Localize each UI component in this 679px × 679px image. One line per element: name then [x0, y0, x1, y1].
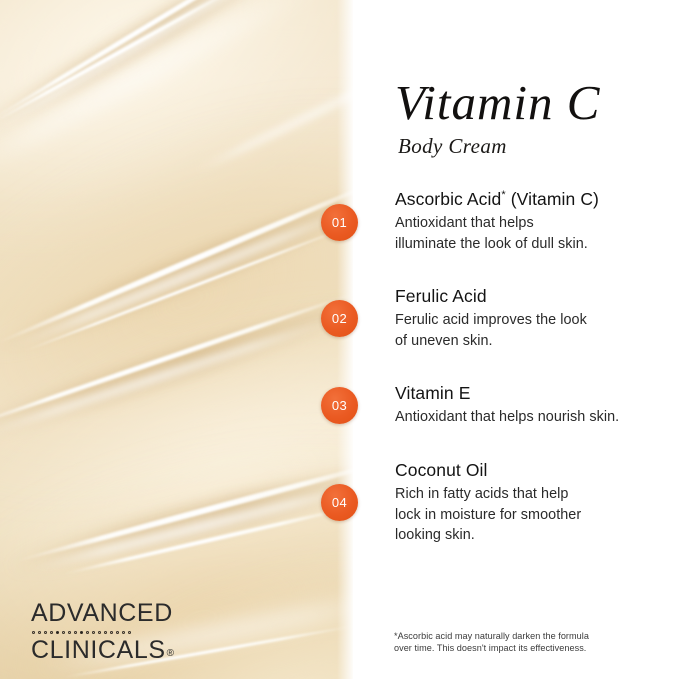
logo-dot: [62, 631, 65, 634]
logo-dot: [86, 631, 89, 634]
ingredient-name: Ferulic Acid: [395, 285, 669, 307]
ingredient-description-line: Ferulic acid improves the look: [395, 310, 669, 331]
ingredient-description: Rich in fatty acids that help lock in mo…: [395, 484, 669, 546]
logo-dot: [116, 631, 119, 634]
ingredient-name-text: Ascorbic Acid: [395, 189, 501, 209]
logo-dot: [32, 631, 35, 634]
step-badge-04[interactable]: 04: [321, 484, 358, 521]
ingredient-description-line: of uneven skin.: [395, 331, 669, 352]
logo-line-advanced: ADVANCED: [31, 600, 181, 627]
ingredient-name: Ascorbic Acid* (Vitamin C): [395, 188, 669, 210]
ingredient-name-text: Coconut Oil: [395, 460, 488, 480]
ingredient-description: Antioxidant that helps illuminate the lo…: [395, 213, 669, 254]
logo-dot: [128, 631, 131, 634]
cream-texture-photo: ADVANCED CLINICALS: [0, 0, 353, 679]
ingredient-item-ascorbic-acid: Ascorbic Acid* (Vitamin C) Antioxidant t…: [395, 188, 669, 254]
step-badge-label: 04: [332, 495, 347, 510]
ingredient-description-line: illuminate the look of dull skin.: [395, 234, 669, 255]
registered-trademark-mark: ®: [167, 647, 174, 661]
ingredient-description-line: lock in moisture for smoother: [395, 505, 669, 526]
brand-logo: ADVANCED CLINICALS: [31, 600, 181, 664]
logo-dot: [74, 631, 77, 634]
step-badge-label: 02: [332, 311, 347, 326]
ingredient-item-ferulic-acid: Ferulic Acid Ferulic acid improves the l…: [395, 285, 669, 351]
step-badge-label: 01: [332, 215, 347, 230]
logo-dot: [38, 631, 41, 634]
product-infographic: ADVANCED CLINICALS: [0, 0, 679, 679]
ingredient-name-text: Ferulic Acid: [395, 286, 487, 306]
logo-dot: [122, 631, 125, 634]
step-badge-03[interactable]: 03: [321, 387, 358, 424]
logo-dot: [110, 631, 113, 634]
ingredient-description-line: Antioxidant that helps: [395, 213, 669, 234]
ingredient-name: Vitamin E: [395, 382, 669, 404]
content-panel: Vitamin C Body Cream Ascorbic Acid* (Vit…: [353, 0, 679, 679]
ingredient-name: Coconut Oil: [395, 459, 669, 481]
ingredient-item-vitamin-e: Vitamin E Antioxidant that helps nourish…: [395, 382, 669, 428]
logo-dot: [104, 631, 107, 634]
step-badge-01[interactable]: 01: [321, 204, 358, 241]
footnote-line: over time. This doesn't impact its effec…: [394, 642, 662, 654]
footnote-line: *Ascorbic acid may naturally darken the …: [394, 630, 662, 642]
logo-dot: [44, 631, 47, 634]
logo-dot: [68, 631, 71, 634]
step-badge-label: 03: [332, 398, 347, 413]
step-badge-02[interactable]: 02: [321, 300, 358, 337]
ingredient-description: Antioxidant that helps nourish skin.: [395, 407, 669, 428]
logo-dot: [50, 631, 53, 634]
logo-dot: [98, 631, 101, 634]
logo-line-clinicals: CLINICALS: [31, 637, 166, 664]
ingredient-item-coconut-oil: Coconut Oil Rich in fatty acids that hel…: [395, 459, 669, 546]
ingredient-list: Ascorbic Acid* (Vitamin C) Antioxidant t…: [353, 0, 679, 679]
logo-line-clinicals-wrap: CLINICALS ®: [31, 637, 181, 664]
logo-dot-filled: [80, 631, 83, 634]
logo-dot: [92, 631, 95, 634]
ingredient-name-text: Vitamin E: [395, 383, 470, 403]
footnote-disclaimer: *Ascorbic acid may naturally darken the …: [394, 630, 662, 655]
ingredient-description-line: Antioxidant that helps nourish skin.: [395, 407, 669, 428]
ingredient-description: Ferulic acid improves the look of uneven…: [395, 310, 669, 351]
photo-edge-fade: [337, 0, 353, 679]
ingredient-description-line: looking skin.: [395, 525, 669, 546]
ingredient-name-suffix: (Vitamin C): [506, 189, 599, 209]
ingredient-description-line: Rich in fatty acids that help: [395, 484, 669, 505]
logo-dot-filled: [56, 631, 59, 634]
